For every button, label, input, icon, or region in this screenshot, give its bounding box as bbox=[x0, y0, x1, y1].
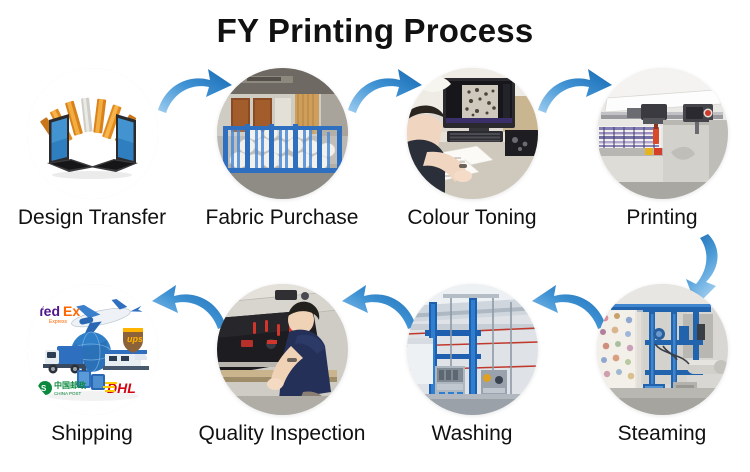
step-label-printing: Printing bbox=[567, 206, 750, 229]
svg-text:中国邮政: 中国邮政 bbox=[54, 380, 86, 390]
warehouse-fabric-rolls-illustration bbox=[217, 68, 348, 199]
svg-text:Express: Express bbox=[49, 319, 68, 325]
svg-text:S: S bbox=[41, 384, 47, 393]
step-label-quality-inspection: Quality Inspection bbox=[187, 422, 377, 445]
step-label-colour-toning: Colour Toning bbox=[377, 206, 567, 229]
digital-textile-printer-illustration bbox=[597, 68, 728, 199]
step-printing[interactable]: Printing bbox=[567, 68, 750, 229]
step-image-steaming bbox=[597, 284, 728, 415]
svg-text:ups: ups bbox=[127, 334, 143, 344]
step-label-shipping: Shipping bbox=[0, 422, 187, 445]
two-laptops-exchanging-documents-illustration bbox=[27, 68, 158, 199]
svg-text:fed: fed bbox=[39, 303, 60, 319]
step-label-design-transfer: Design Transfer bbox=[0, 206, 187, 229]
page-title: FY Printing Process bbox=[0, 12, 750, 50]
step-label-washing: Washing bbox=[377, 422, 567, 445]
step-image-colour-toning bbox=[407, 68, 538, 199]
step-image-fabric-purchase bbox=[217, 68, 348, 199]
step-label-fabric-purchase: Fabric Purchase bbox=[187, 206, 377, 229]
svg-text:Ex: Ex bbox=[63, 303, 80, 319]
step-image-shipping: fed Ex Express ups S 中国邮政 CHINA POST DHL bbox=[27, 284, 158, 415]
step-image-printing bbox=[597, 68, 728, 199]
step-image-quality-inspection bbox=[217, 284, 348, 415]
step-steaming[interactable]: Steaming bbox=[567, 284, 750, 445]
step-image-washing bbox=[407, 284, 538, 415]
global-logistics-illustration: fed Ex Express ups S 中国邮政 CHINA POST DHL bbox=[27, 284, 158, 415]
steaming-machine-illustration bbox=[597, 284, 728, 415]
step-image-design-transfer bbox=[27, 68, 158, 199]
step-label-steaming: Steaming bbox=[567, 422, 750, 445]
quality-inspection-illustration bbox=[217, 284, 348, 415]
operator-colour-matching-illustration bbox=[407, 68, 538, 199]
washing-range-illustration bbox=[407, 284, 538, 415]
